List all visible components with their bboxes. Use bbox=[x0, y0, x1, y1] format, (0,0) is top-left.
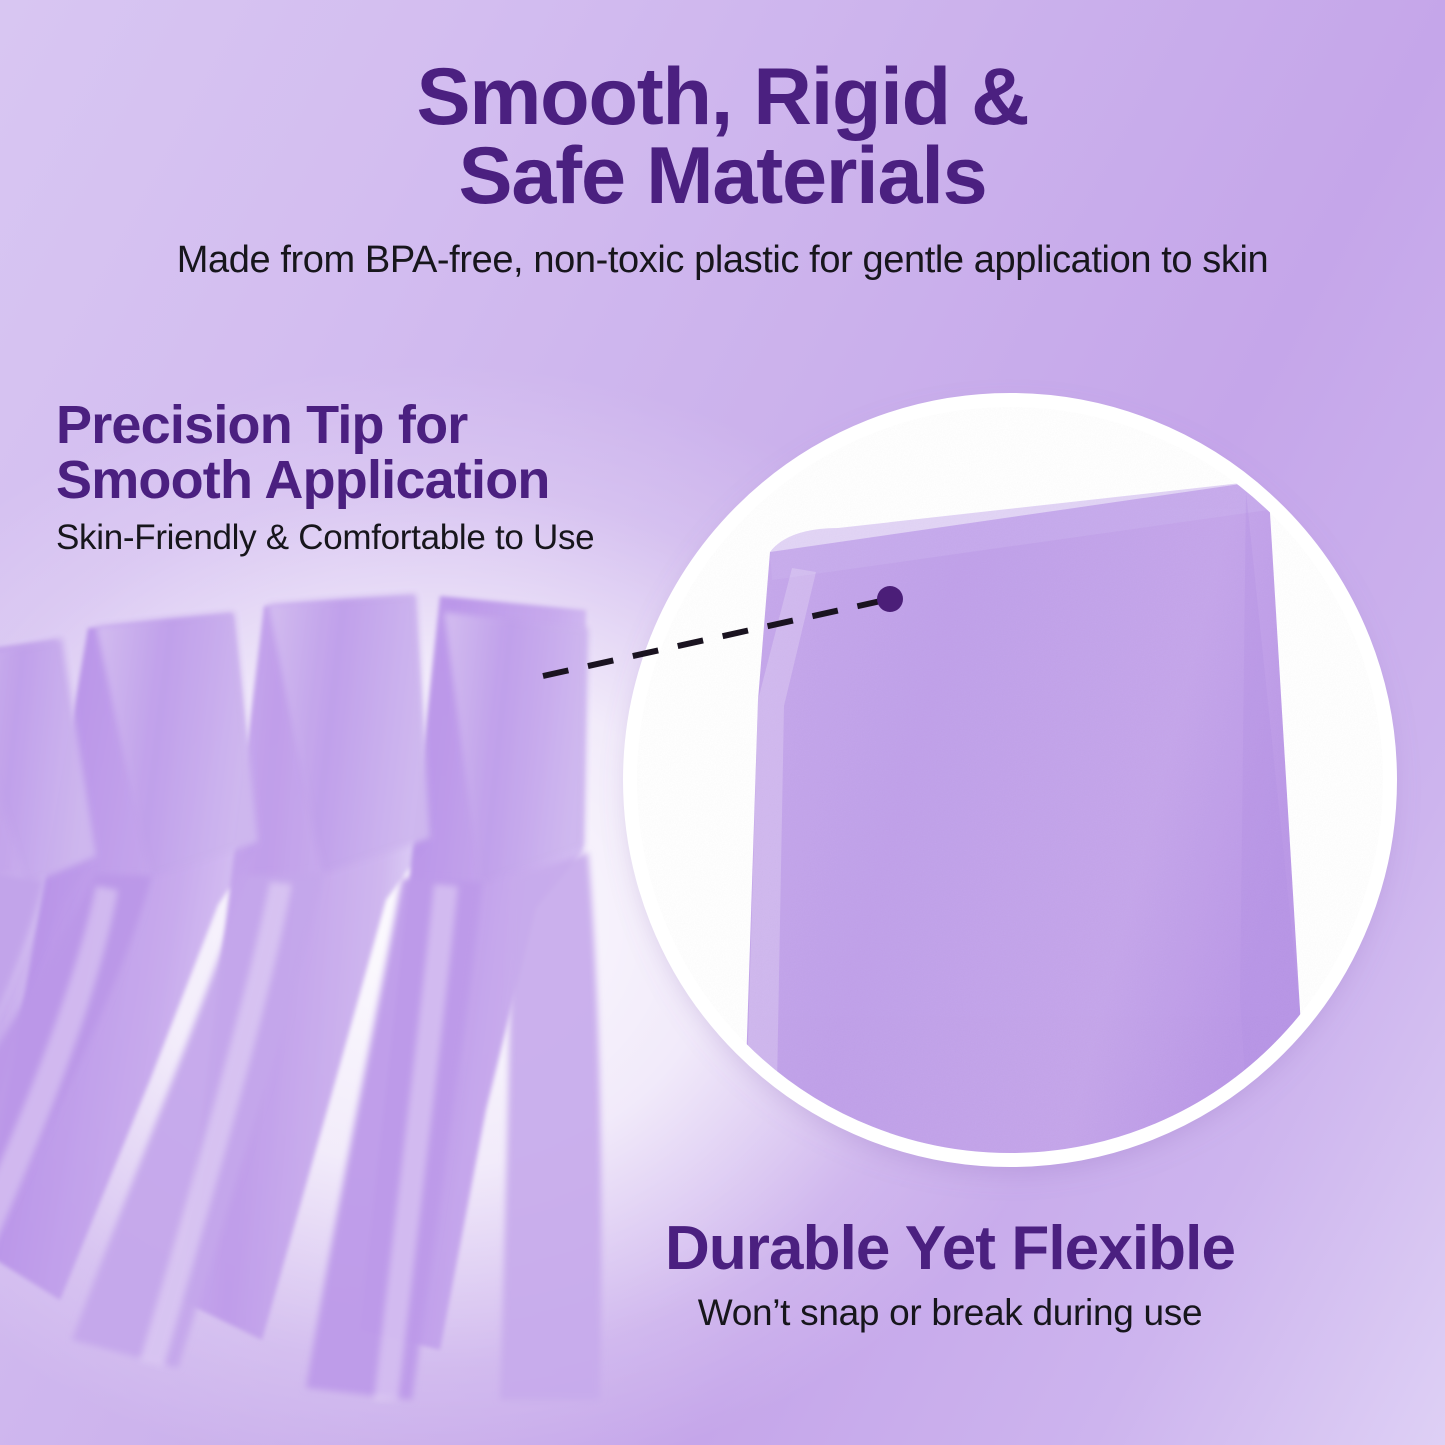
feature-precision-tip-title: Precision Tip for Smooth Application bbox=[56, 398, 756, 508]
feature-precision-tip-subtitle: Skin-Friendly & Comfortable to Use bbox=[56, 518, 756, 558]
feature-durable-flexible-subtitle: Won’t snap or break during use bbox=[470, 1292, 1430, 1334]
page-subtitle: Made from BPA-free, non-toxic plastic fo… bbox=[0, 239, 1445, 282]
header-block: Smooth, Rigid & Safe Materials Made from… bbox=[0, 58, 1445, 282]
callout-dashed-line bbox=[543, 599, 890, 676]
callout-dot bbox=[877, 586, 903, 612]
feature-durable-flexible-title: Durable Yet Flexible bbox=[470, 1218, 1430, 1280]
page-title: Smooth, Rigid & Safe Materials bbox=[0, 58, 1445, 217]
feature-precision-tip: Precision Tip for Smooth Application Ski… bbox=[56, 398, 756, 558]
feature-durable-flexible: Durable Yet Flexible Won’t snap or break… bbox=[470, 1218, 1430, 1334]
product-infographic: Smooth, Rigid & Safe Materials Made from… bbox=[0, 0, 1445, 1445]
